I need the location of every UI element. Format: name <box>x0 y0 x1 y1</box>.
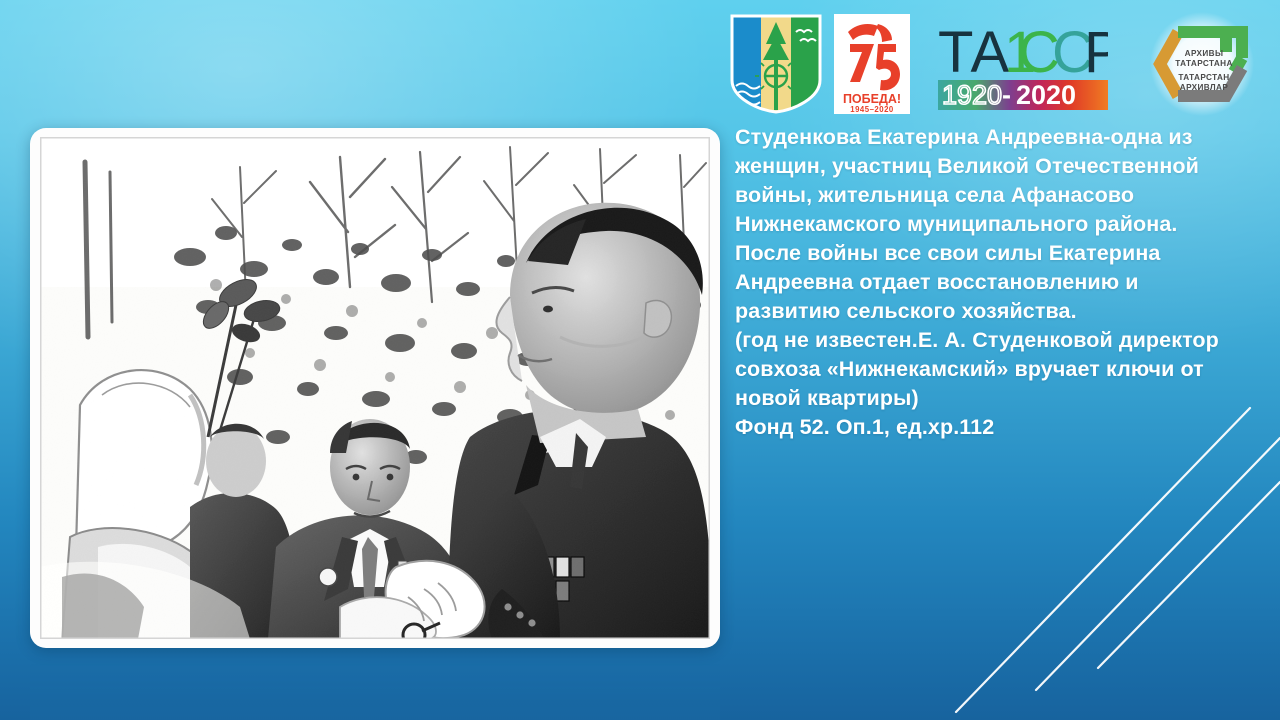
decor-line-3 <box>1098 482 1280 668</box>
archives-line-4: АРХИВЛАР <box>1180 83 1229 92</box>
victory-years: 1945–2020 <box>850 105 894 114</box>
svg-text:-: - <box>1002 80 1011 110</box>
archives-line-2: ТАТАРСТАНА <box>1175 59 1233 68</box>
photo-card <box>30 128 720 648</box>
archives-of-tatarstan-logo: АРХИВЫ ТАТАРСТАНА ТАТАРСТАН АРХИВЛАР <box>1134 12 1270 116</box>
victory-caption: ПОБЕДА! <box>843 92 901 106</box>
svg-text:Р: Р <box>1084 20 1108 85</box>
photo-image <box>40 137 710 639</box>
archives-line-3: ТАТАРСТАН <box>1178 73 1229 82</box>
archival-photograph <box>40 137 710 639</box>
tassr-year-new: 2020 <box>1016 80 1076 110</box>
archives-line-1: АРХИВЫ <box>1185 49 1224 58</box>
caption-paragraph-note: (год не известен.Е. А. Студенковой дирек… <box>735 326 1247 413</box>
archive-reference: Фонд 52. Оп.1, ед.хр.112 <box>735 413 1247 442</box>
nizhnekamsk-coat-of-arms-logo <box>730 14 822 114</box>
caption-block: Студенкова Екатерина Андреевна-одна из ж… <box>735 123 1247 442</box>
photo-reflection <box>30 652 720 720</box>
caption-paragraph-main: Студенкова Екатерина Андреевна-одна из ж… <box>735 123 1247 326</box>
decor-line-2 <box>1036 438 1280 690</box>
tassr-100-logo: ТА 1 С С Р 1920 - 2020 <box>938 14 1108 114</box>
logo-row: ПОБЕДА! 1945–2020 <box>730 14 1270 114</box>
slide-canvas: ПОБЕДА! 1945–2020 <box>0 0 1280 720</box>
victory-75-logo: ПОБЕДА! 1945–2020 <box>834 14 910 114</box>
decor-line-1 <box>956 408 1250 712</box>
svg-text:ТА: ТА <box>938 20 1010 85</box>
tassr-year-old: 1920 <box>942 80 1002 110</box>
